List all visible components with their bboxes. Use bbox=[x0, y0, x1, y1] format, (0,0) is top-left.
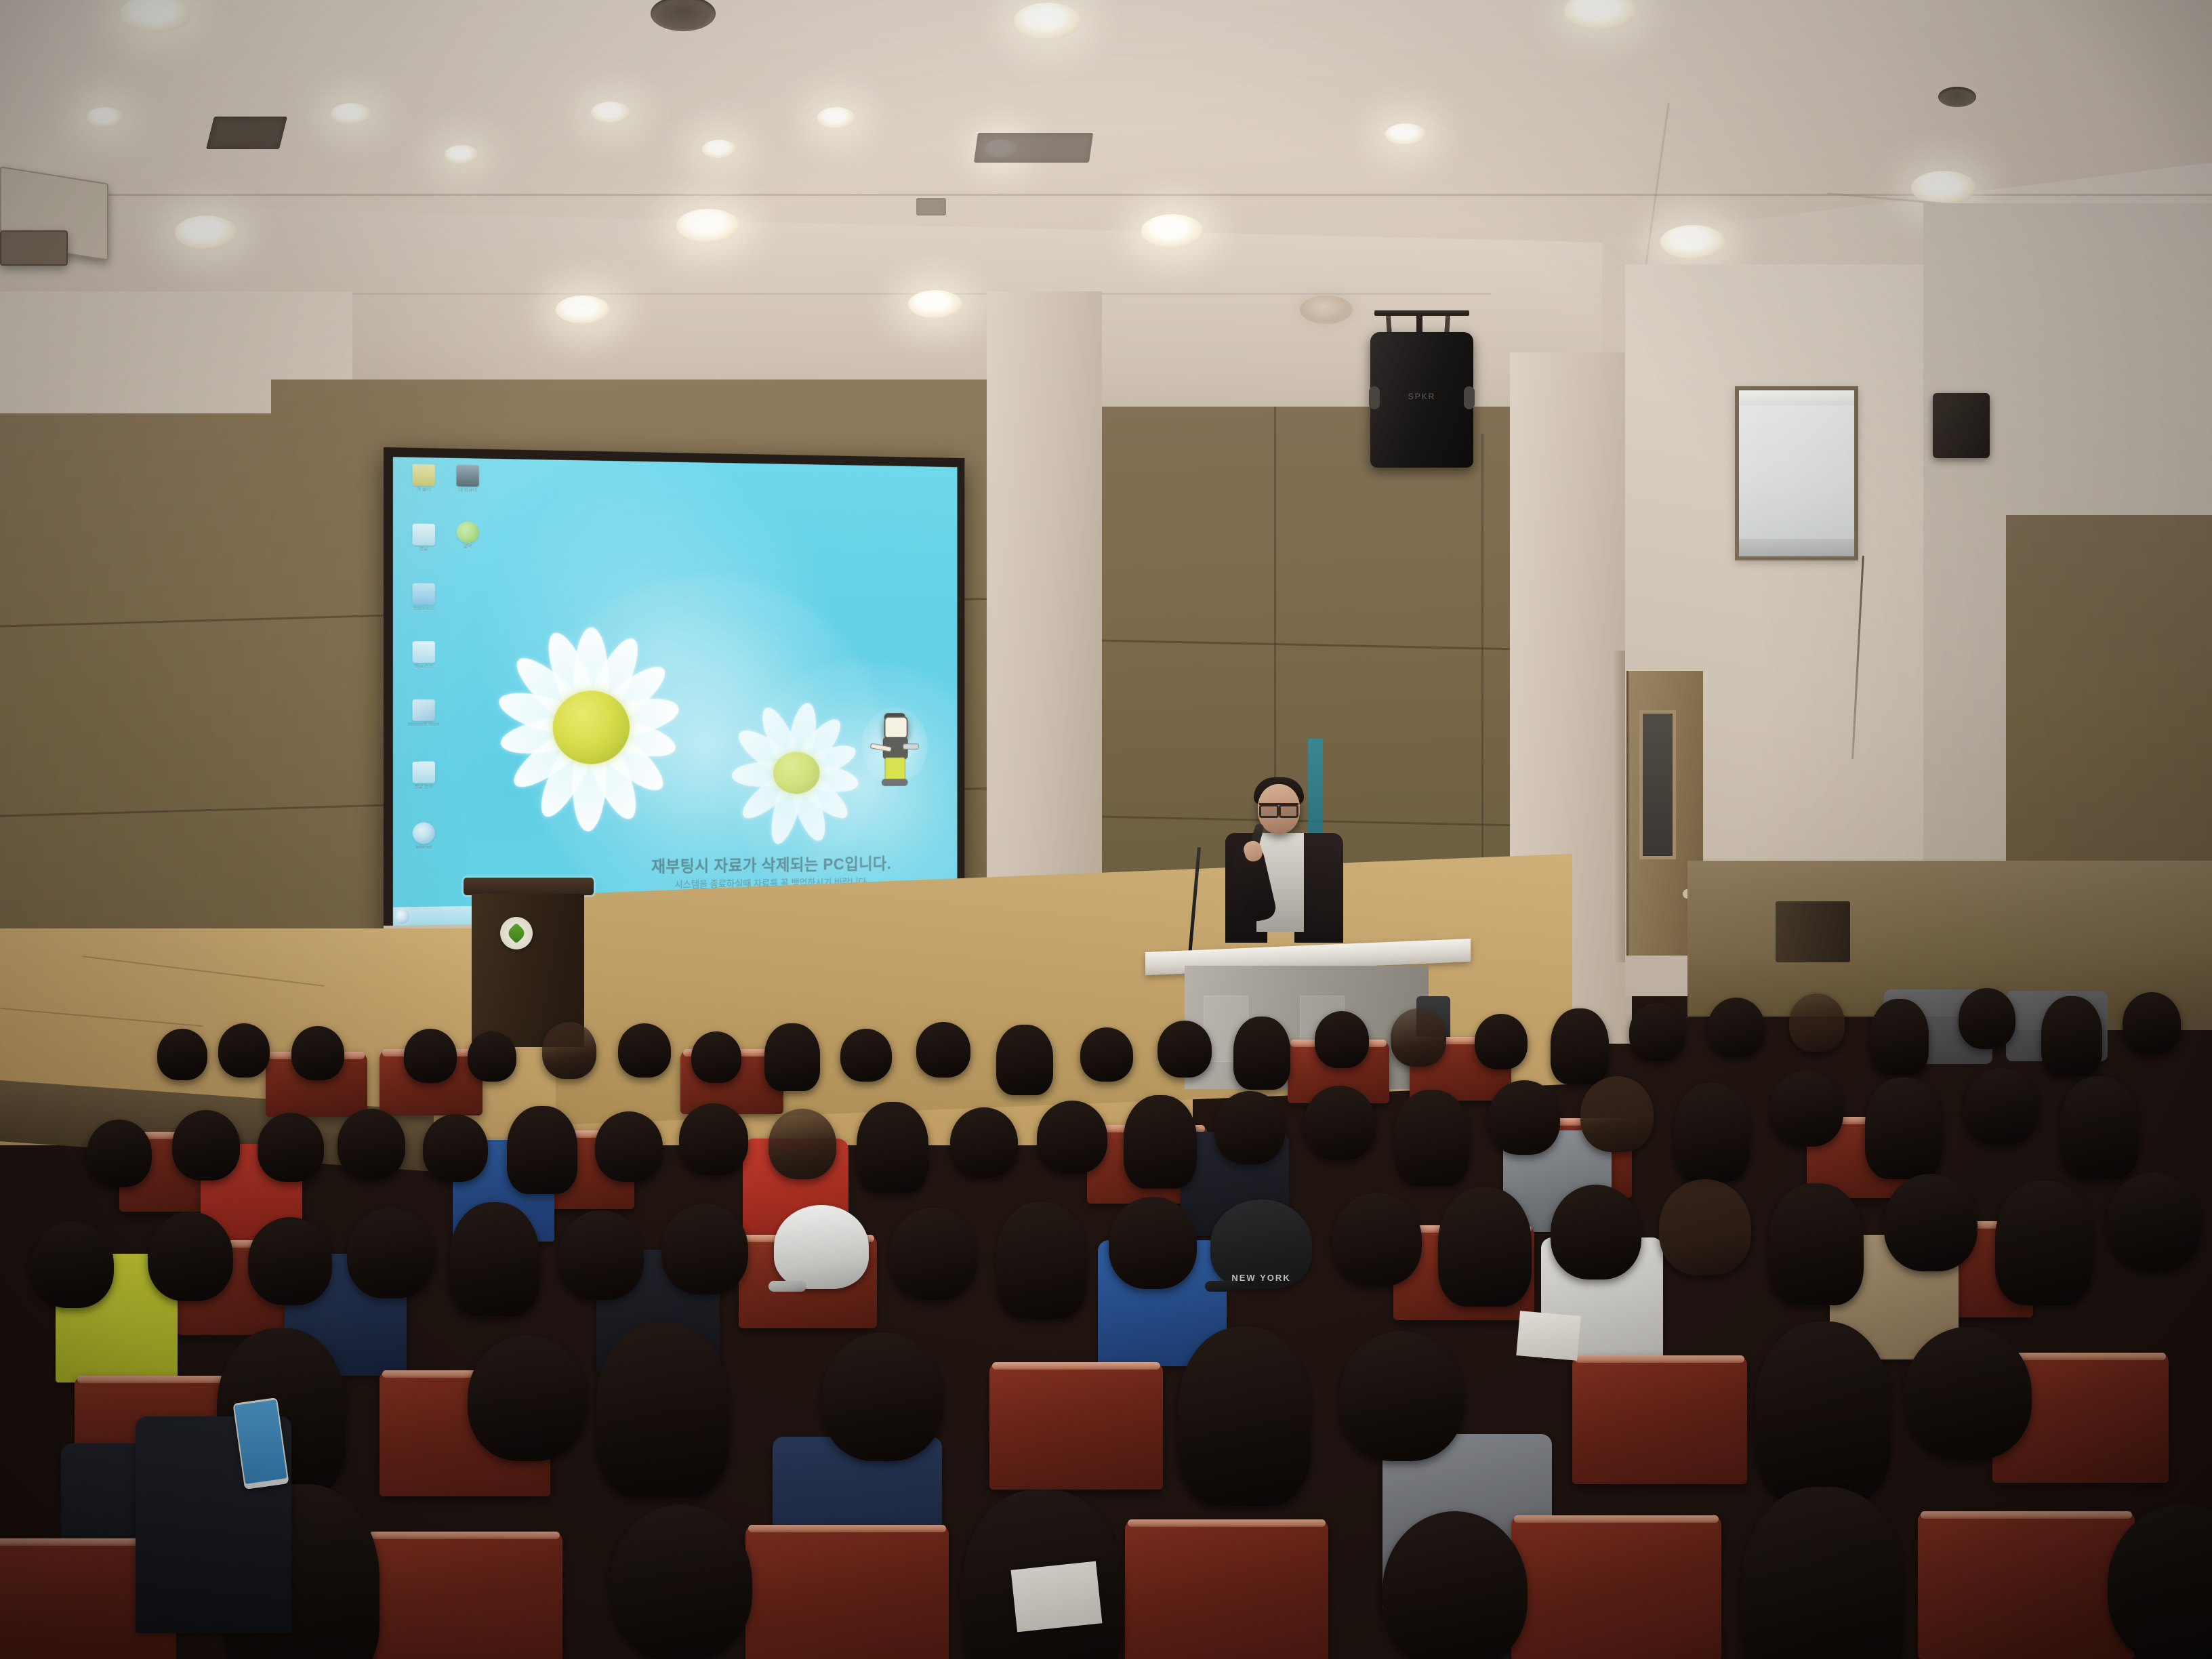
audience-head bbox=[468, 1335, 587, 1461]
auditorium-seat[interactable] bbox=[366, 1532, 562, 1659]
auditorium-seat[interactable] bbox=[1511, 1515, 1721, 1659]
presenter bbox=[1200, 776, 1362, 966]
audience-head bbox=[1315, 1011, 1369, 1068]
audience-head bbox=[821, 1332, 943, 1461]
desktop-icon-grid[interactable]: 새 폴더 내 컴퓨터 한글 알약 한컴오피스 bbox=[398, 464, 498, 466]
audience-head bbox=[1742, 1487, 1904, 1659]
audience-head bbox=[1551, 1185, 1641, 1279]
audience-head bbox=[610, 1504, 752, 1659]
audience-head bbox=[950, 1107, 1018, 1178]
audience-head bbox=[1124, 1095, 1197, 1189]
ceiling-pa-speaker: SPKR bbox=[1370, 332, 1473, 468]
ceiling-downlight bbox=[175, 216, 237, 249]
audience-head bbox=[1395, 1090, 1469, 1186]
ceiling-downlight bbox=[702, 140, 736, 159]
audience-head bbox=[596, 1322, 729, 1498]
audience-head bbox=[1304, 1086, 1376, 1160]
audience-head bbox=[1488, 1080, 1560, 1155]
audience-head bbox=[172, 1110, 240, 1181]
audience-head bbox=[468, 1031, 516, 1082]
audience-head bbox=[1674, 1083, 1750, 1182]
audience-head bbox=[1755, 1322, 1891, 1503]
desktop-icon-internet[interactable]: Internet bbox=[403, 822, 445, 851]
wall-window-panel bbox=[1735, 386, 1858, 560]
ceiling-downlight bbox=[676, 209, 740, 243]
audience-head bbox=[1109, 1197, 1197, 1289]
audience-head bbox=[857, 1102, 928, 1193]
desktop-icon-word[interactable]: Microsoft Word bbox=[403, 699, 445, 728]
handout-paper[interactable] bbox=[1011, 1561, 1103, 1633]
audience-head bbox=[542, 1022, 596, 1079]
cap-brim bbox=[769, 1281, 806, 1292]
ceiling-downlight bbox=[1938, 87, 1976, 107]
audience-head bbox=[157, 1029, 207, 1080]
speaker-brand-label: SPKR bbox=[1370, 392, 1473, 401]
ceiling-downlight bbox=[1911, 171, 1976, 205]
white-baseball-cap bbox=[774, 1205, 869, 1289]
audience-head bbox=[558, 1210, 644, 1300]
hwp-icon bbox=[413, 762, 436, 783]
audience-head bbox=[618, 1023, 671, 1078]
audience-seating: NEW YORK bbox=[0, 969, 2212, 1659]
door-frame bbox=[1613, 651, 1625, 962]
auditorium-photo: SPKR bbox=[0, 0, 2212, 1659]
shortcut-icon bbox=[413, 641, 436, 663]
audience-head bbox=[1332, 1193, 1422, 1286]
ceiling-vent bbox=[916, 198, 946, 216]
audience-head bbox=[347, 1208, 434, 1298]
ceiling-downlight bbox=[591, 102, 630, 123]
audience-head bbox=[1214, 1091, 1285, 1164]
phone-screen[interactable] bbox=[234, 1399, 287, 1483]
audience-head bbox=[423, 1114, 488, 1182]
audience-head bbox=[691, 1031, 741, 1083]
audience-head bbox=[148, 1212, 233, 1301]
glasses-icon bbox=[1259, 803, 1298, 815]
audience-head bbox=[1475, 1014, 1528, 1069]
audience-head bbox=[248, 1217, 332, 1305]
podium-emblem-icon bbox=[500, 917, 533, 949]
audience-head bbox=[1037, 1101, 1107, 1174]
ceiling-seam bbox=[0, 194, 2212, 196]
audience-head bbox=[404, 1029, 457, 1083]
audience-head bbox=[840, 1029, 892, 1082]
audience-head bbox=[1391, 1008, 1446, 1067]
wall-recess bbox=[1776, 901, 1850, 962]
ceiling-downlight bbox=[1014, 3, 1082, 39]
audience-head bbox=[916, 1022, 970, 1078]
daisy-core bbox=[773, 752, 820, 794]
folder-icon bbox=[413, 464, 436, 486]
audience-head bbox=[507, 1106, 577, 1194]
mascot-character-icon bbox=[868, 715, 922, 791]
audience-head bbox=[2123, 992, 2181, 1054]
desktop-icon-alyac[interactable]: 알약 bbox=[447, 521, 489, 550]
audience-head bbox=[1659, 1179, 1751, 1275]
word-icon bbox=[413, 699, 436, 721]
audience-head bbox=[1580, 1076, 1654, 1152]
audience-head bbox=[1865, 1078, 1942, 1179]
ceiling-downlight bbox=[1141, 214, 1204, 248]
projected-desktop[interactable]: 새 폴더 내 컴퓨터 한글 알약 한컴오피스 bbox=[393, 457, 958, 926]
audience-head bbox=[661, 1204, 748, 1294]
podium-top bbox=[464, 878, 594, 895]
auditorium-seat[interactable] bbox=[989, 1362, 1163, 1490]
desktop-icon-hangul[interactable]: 한글 bbox=[403, 523, 445, 552]
audience-head bbox=[1233, 1017, 1290, 1090]
audience-head bbox=[1789, 994, 1845, 1052]
ceiling-downlight bbox=[331, 103, 371, 125]
audience-head bbox=[2041, 996, 2102, 1076]
document-icon bbox=[413, 524, 436, 546]
ceiling-downlight bbox=[445, 145, 478, 164]
start-orb-icon[interactable] bbox=[395, 909, 410, 924]
desktop-icon-new-folder[interactable]: 새 폴더 bbox=[403, 464, 445, 493]
audience-head bbox=[764, 1023, 820, 1091]
audience-head bbox=[1884, 1174, 1978, 1271]
audience-head bbox=[258, 1113, 324, 1182]
auditorium-seat[interactable] bbox=[1125, 1519, 1328, 1659]
projection-screen: 새 폴더 내 컴퓨터 한글 알약 한컴오피스 bbox=[384, 447, 964, 949]
audience-head bbox=[1870, 999, 1929, 1075]
audience-head bbox=[1629, 1003, 1685, 1061]
auditorium-seat[interactable] bbox=[1572, 1355, 1747, 1484]
ceiling-downlight bbox=[1385, 123, 1426, 145]
audience-head bbox=[218, 1023, 270, 1078]
green-pill-icon bbox=[456, 521, 478, 543]
audience-head bbox=[1382, 1511, 1528, 1659]
black-baseball-cap: NEW YORK bbox=[1210, 1200, 1312, 1289]
audience-head bbox=[1708, 998, 1765, 1057]
desktop-icon-shortcut[interactable]: 바로가기 bbox=[403, 641, 445, 670]
ceiling-downlight bbox=[908, 290, 962, 319]
handout-paper[interactable] bbox=[1516, 1311, 1580, 1361]
audience-head bbox=[450, 1202, 539, 1316]
audience-head bbox=[1178, 1327, 1311, 1506]
ceiling-vent bbox=[974, 133, 1093, 163]
audience-head bbox=[595, 1111, 663, 1182]
audience-head bbox=[996, 1025, 1053, 1095]
ceiling-downlight bbox=[87, 107, 123, 127]
audience-head bbox=[1964, 1068, 2039, 1145]
projector-housing bbox=[0, 230, 68, 266]
auditorium-seat[interactable] bbox=[1918, 1511, 2135, 1659]
ceiling-downlight bbox=[1660, 225, 1725, 259]
wall-speaker-icon bbox=[1933, 393, 1990, 458]
audience-head bbox=[1770, 1071, 1843, 1147]
leaf-crest-icon bbox=[506, 922, 527, 943]
audience-head bbox=[1959, 988, 2015, 1049]
computer-icon bbox=[456, 465, 478, 487]
audience-head bbox=[31, 1221, 114, 1308]
desktop-icon-hancom[interactable]: 한컴오피스 bbox=[403, 583, 445, 611]
audience-head bbox=[2106, 1172, 2201, 1271]
audience-head bbox=[1158, 1021, 1212, 1078]
audience-head bbox=[1995, 1181, 2093, 1305]
audience-head bbox=[337, 1109, 405, 1179]
audience-head bbox=[291, 1026, 344, 1080]
ceiling-vent bbox=[206, 117, 287, 149]
cap-label: NEW YORK bbox=[1210, 1273, 1312, 1283]
audience-head bbox=[1080, 1027, 1133, 1082]
audience-head bbox=[1438, 1187, 1532, 1307]
window-shade bbox=[1739, 390, 1854, 405]
audience-head bbox=[996, 1202, 1087, 1319]
audience-head bbox=[889, 1208, 977, 1300]
audience-head bbox=[1551, 1008, 1609, 1084]
ceiling-downlight bbox=[1300, 295, 1353, 324]
audience-head bbox=[87, 1120, 152, 1187]
audience-head bbox=[679, 1103, 748, 1175]
door-vision-lite bbox=[1639, 710, 1676, 859]
ie-icon bbox=[413, 822, 436, 844]
daisy-core bbox=[553, 691, 630, 764]
desktop-icon-hwp[interactable]: 한글 문서 bbox=[403, 762, 445, 790]
blue-app-icon bbox=[413, 583, 436, 605]
audience-head bbox=[769, 1109, 836, 1179]
window-sill bbox=[1739, 539, 1854, 556]
audience-head bbox=[1904, 1327, 2032, 1460]
audience-head bbox=[1769, 1183, 1864, 1305]
audience-head bbox=[1339, 1331, 1464, 1461]
desktop-icon-computer[interactable]: 내 컴퓨터 bbox=[447, 465, 489, 494]
ceiling-downlight bbox=[817, 107, 855, 129]
auditorium-seat[interactable] bbox=[745, 1525, 949, 1659]
audience-head bbox=[2060, 1076, 2139, 1179]
ceiling-downlight bbox=[556, 295, 610, 324]
